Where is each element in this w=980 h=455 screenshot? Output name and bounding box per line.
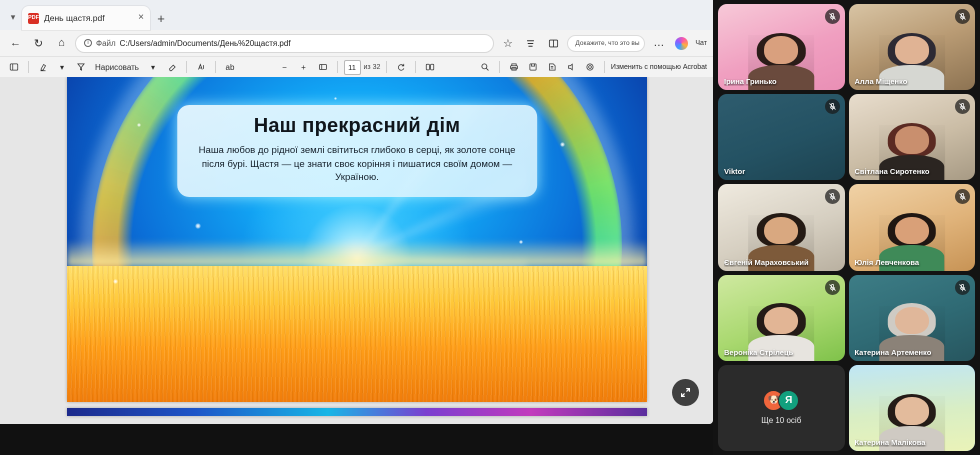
microphone-muted-icon	[955, 280, 970, 295]
participant-row-1: Ірина Гринько Алла Міщенко	[718, 4, 975, 90]
browser-tab[interactable]: PDF День щастя.pdf ×	[22, 6, 150, 30]
microphone-muted-icon	[825, 280, 840, 295]
zoom-out-button[interactable]: −	[277, 59, 293, 75]
text-style-icon[interactable]	[193, 59, 209, 75]
tab-title: День щастя.pdf	[44, 13, 133, 23]
table-of-contents-icon[interactable]	[6, 59, 22, 75]
divider	[186, 61, 187, 73]
sparkle-icon	[560, 142, 565, 147]
page-total-label: из 32	[364, 64, 381, 71]
participant-name: Світлана Сиротенко	[855, 167, 958, 176]
address-bar[interactable]: i Файл C:/Users/admin/Documents/День%20щ…	[75, 34, 494, 53]
pdf-viewer[interactable]: Наш прекрасний дім Наша любов до рідної …	[0, 77, 713, 424]
face	[895, 36, 929, 64]
page-number-input[interactable]: 11	[344, 60, 361, 75]
favorite-star-icon[interactable]: ☆	[498, 34, 517, 53]
participant-tile-active-speaker[interactable]: Катерина Малікова	[849, 365, 976, 451]
wheat-field	[67, 266, 647, 403]
draw-icon[interactable]	[73, 59, 89, 75]
sparkle-icon	[334, 97, 337, 100]
refresh-button[interactable]: ↻	[29, 34, 48, 53]
chat-label[interactable]: Чат	[695, 40, 707, 47]
back-button[interactable]: ←	[6, 34, 25, 53]
video-call-grid: Ірина Гринько Алла Міщенко	[713, 0, 980, 455]
face	[895, 217, 929, 245]
new-tab-button[interactable]: +	[150, 7, 172, 29]
divider	[215, 61, 216, 73]
divider	[386, 61, 387, 73]
participant-name: Viktor	[724, 167, 827, 176]
collections-icon[interactable]	[521, 34, 540, 53]
browser-window: ▾ PDF День щастя.pdf × + ← ↻ ⌂ i Файл C:…	[0, 0, 713, 424]
participant-tile[interactable]: Ірина Гринько	[718, 4, 845, 90]
read-aloud-icon[interactable]	[563, 59, 579, 75]
two-page-view-icon[interactable]	[422, 59, 438, 75]
search-icon[interactable]	[477, 59, 493, 75]
participant-name: Євгеній Мараховський	[724, 258, 827, 267]
participant-name: Вероніка Стрілець	[724, 348, 827, 357]
microphone-muted-icon	[825, 99, 840, 114]
screen-root: ▾ PDF День щастя.pdf × + ← ↻ ⌂ i Файл C:…	[0, 0, 980, 455]
split-screen-icon[interactable]	[544, 34, 563, 53]
participant-tile[interactable]: Viktor	[718, 94, 845, 180]
participant-tile[interactable]: Катерина Артеменко	[849, 275, 976, 361]
tab-strip: ▾ PDF День щастя.pdf × +	[0, 0, 713, 30]
participant-tile[interactable]: Вероніка Стрілець	[718, 275, 845, 361]
draw-button[interactable]: Нарисовать	[92, 59, 142, 75]
participant-name: Катерина Артеменко	[855, 348, 958, 357]
slide-body-text: Наша любов до рідної землі світиться гли…	[189, 144, 525, 186]
face	[895, 307, 929, 335]
highlight-color-chevron-icon[interactable]: ▾	[54, 59, 70, 75]
face	[764, 36, 798, 64]
address-scheme-label: Файл	[96, 39, 116, 48]
wheat-horizon-glow	[67, 240, 647, 266]
settings-icon[interactable]	[582, 59, 598, 75]
print-icon[interactable]	[506, 59, 522, 75]
tab-search-chevron-icon[interactable]: ▾	[4, 6, 22, 28]
participant-tile[interactable]: Світлана Сиротенко	[849, 94, 976, 180]
pdf-file-icon: PDF	[28, 13, 39, 24]
navigation-bar: ← ↻ ⌂ i Файл C:/Users/admin/Documents/Де…	[0, 30, 713, 56]
divider	[415, 61, 416, 73]
rotate-icon[interactable]	[393, 59, 409, 75]
notes-icon[interactable]	[544, 59, 560, 75]
sparkle-icon	[137, 123, 141, 127]
avatar-ya: Я	[778, 390, 799, 411]
microphone-muted-icon	[825, 189, 840, 204]
edit-with-acrobat-button[interactable]: Изменить с помощью Acrobat	[611, 64, 707, 71]
participant-name: Ірина Гринько	[724, 77, 827, 86]
face	[764, 307, 798, 335]
more-participants-label: Ще 10 осіб	[761, 416, 801, 425]
sparkle-icon	[195, 223, 201, 229]
participant-row-3: Євгеній Мараховський Юлія Левченкова	[718, 184, 975, 270]
participant-row-4: Вероніка Стрілець Катерина Артеменко	[718, 275, 975, 361]
ab-label[interactable]: ab	[222, 59, 238, 75]
copilot-icon[interactable]	[672, 34, 691, 53]
copilot-prompt-pill[interactable]: Докажите, что это вы	[567, 35, 645, 52]
copilot-pill-text: Докажите, что это вы	[575, 40, 639, 47]
address-url: C:/Users/admin/Documents/День%20щастя.pd…	[120, 39, 291, 48]
participant-row-2: Viktor Світлана Сиротенко	[718, 94, 975, 180]
highlight-icon[interactable]	[35, 59, 51, 75]
eraser-icon[interactable]	[164, 59, 180, 75]
face	[895, 126, 929, 154]
sparkle-icon	[113, 279, 118, 284]
sparkle-icon	[519, 240, 523, 244]
pdf-next-page-preview	[67, 408, 647, 416]
divider	[337, 61, 338, 73]
expand-fullscreen-icon[interactable]	[672, 379, 699, 406]
draw-chevron-icon[interactable]: ▾	[145, 59, 161, 75]
divider	[28, 61, 29, 73]
fit-page-icon[interactable]	[315, 59, 331, 75]
zoom-in-button[interactable]: +	[296, 59, 312, 75]
participant-row-5: 🐶 Я Ще 10 осіб Катерина Малікова	[718, 365, 975, 451]
pdf-page: Наш прекрасний дім Наша любов до рідної …	[67, 77, 647, 402]
slide-text-card: Наш прекрасний дім Наша любов до рідної …	[177, 105, 537, 198]
divider	[499, 61, 500, 73]
face	[764, 217, 798, 245]
divider	[604, 61, 605, 73]
participant-tile[interactable]: Юлія Левченкова	[849, 184, 976, 270]
overflow-avatars: 🐶 Я	[763, 390, 799, 411]
pdf-toolbar: ▾ Нарисовать ▾ ab − +	[0, 56, 713, 77]
slide-title: Наш прекрасний дім	[189, 115, 525, 138]
more-participants-tile[interactable]: 🐶 Я Ще 10 осіб	[718, 365, 845, 451]
save-icon[interactable]	[525, 59, 541, 75]
participant-tile[interactable]: Євгеній Мараховський	[718, 184, 845, 270]
participant-name: Катерина Малікова	[855, 438, 958, 447]
close-icon[interactable]: ×	[138, 13, 144, 23]
site-info-icon[interactable]: i	[84, 39, 92, 47]
face	[895, 397, 929, 425]
microphone-muted-icon	[955, 9, 970, 24]
more-options-button[interactable]: …	[649, 34, 668, 53]
avatar	[644, 39, 646, 48]
participant-name: Юлія Левченкова	[855, 258, 958, 267]
participant-name: Алла Міщенко	[855, 77, 958, 86]
home-button[interactable]: ⌂	[52, 34, 71, 53]
participant-tile[interactable]: Алла Міщенко	[849, 4, 976, 90]
microphone-muted-icon	[825, 9, 840, 24]
